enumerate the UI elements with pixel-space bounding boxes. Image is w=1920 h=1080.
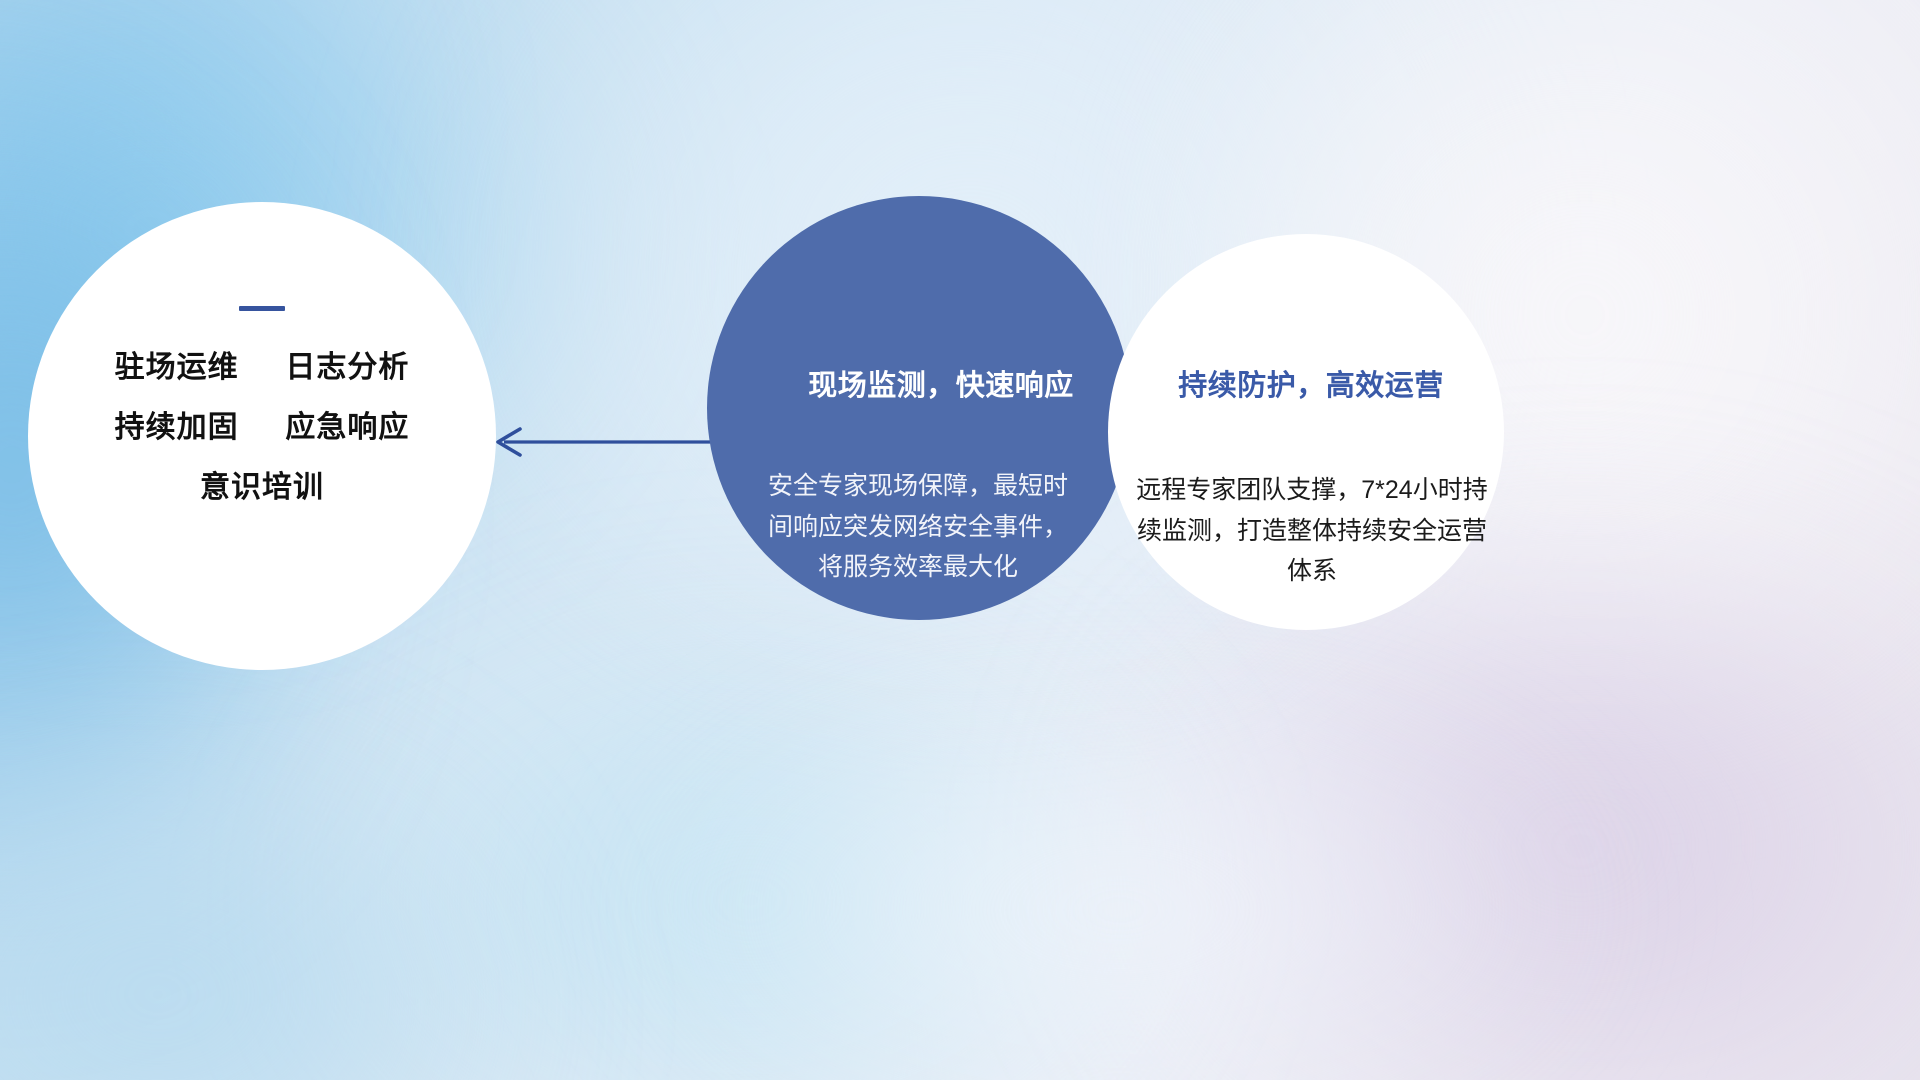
node-service-capabilities-content: 驻场运维 日志分析 持续加固 应急响应 意识培训 bbox=[28, 306, 496, 503]
capability-row: 持续加固 应急响应 bbox=[28, 413, 496, 443]
slide-canvas: 现场监测，快速响应 安全专家现场保障，最短时间响应突发网络安全事件，将服务效率最… bbox=[0, 0, 1920, 1080]
capability-tag: 意识培训 bbox=[200, 471, 324, 504]
node-continuous-protection-content: 持续防护，高效运营 远程专家团队支撑，7*24小时持续监测，打造整体持续安全运营… bbox=[1126, 362, 1496, 592]
title-divider-dash bbox=[239, 306, 285, 311]
node-continuous-protection-title: 持续防护，高效运营 bbox=[1126, 362, 1496, 404]
capability-row: 意识培训 bbox=[28, 473, 496, 503]
node-onsite-monitoring[interactable]: 现场监测，快速响应 安全专家现场保障，最短时间响应突发网络安全事件，将服务效率最… bbox=[707, 196, 1131, 620]
capability-tag: 日志分析 bbox=[285, 351, 409, 384]
capability-tag: 应急响应 bbox=[285, 411, 409, 444]
capability-tag: 持续加固 bbox=[115, 411, 239, 444]
node-service-capabilities[interactable]: 驻场运维 日志分析 持续加固 应急响应 意识培训 bbox=[28, 202, 496, 670]
capability-tag: 驻场运维 bbox=[115, 351, 239, 384]
flow-arrow-left-icon bbox=[480, 412, 720, 472]
node-onsite-monitoring-content: 现场监测，快速响应 安全专家现场保障，最短时间响应突发网络安全事件，将服务效率最… bbox=[755, 362, 1119, 588]
node-continuous-protection-body: 远程专家团队支撑，7*24小时持续监测，打造整体持续安全运营体系 bbox=[1128, 470, 1496, 592]
capability-row: 驻场运维 日志分析 bbox=[28, 353, 496, 383]
node-onsite-monitoring-body: 安全专家现场保障，最短时间响应突发网络安全事件，将服务效率最大化 bbox=[763, 466, 1073, 588]
node-onsite-monitoring-title: 现场监测，快速响应 bbox=[763, 362, 1119, 404]
node-continuous-protection[interactable]: 持续防护，高效运营 远程专家团队支撑，7*24小时持续监测，打造整体持续安全运营… bbox=[1108, 234, 1504, 630]
